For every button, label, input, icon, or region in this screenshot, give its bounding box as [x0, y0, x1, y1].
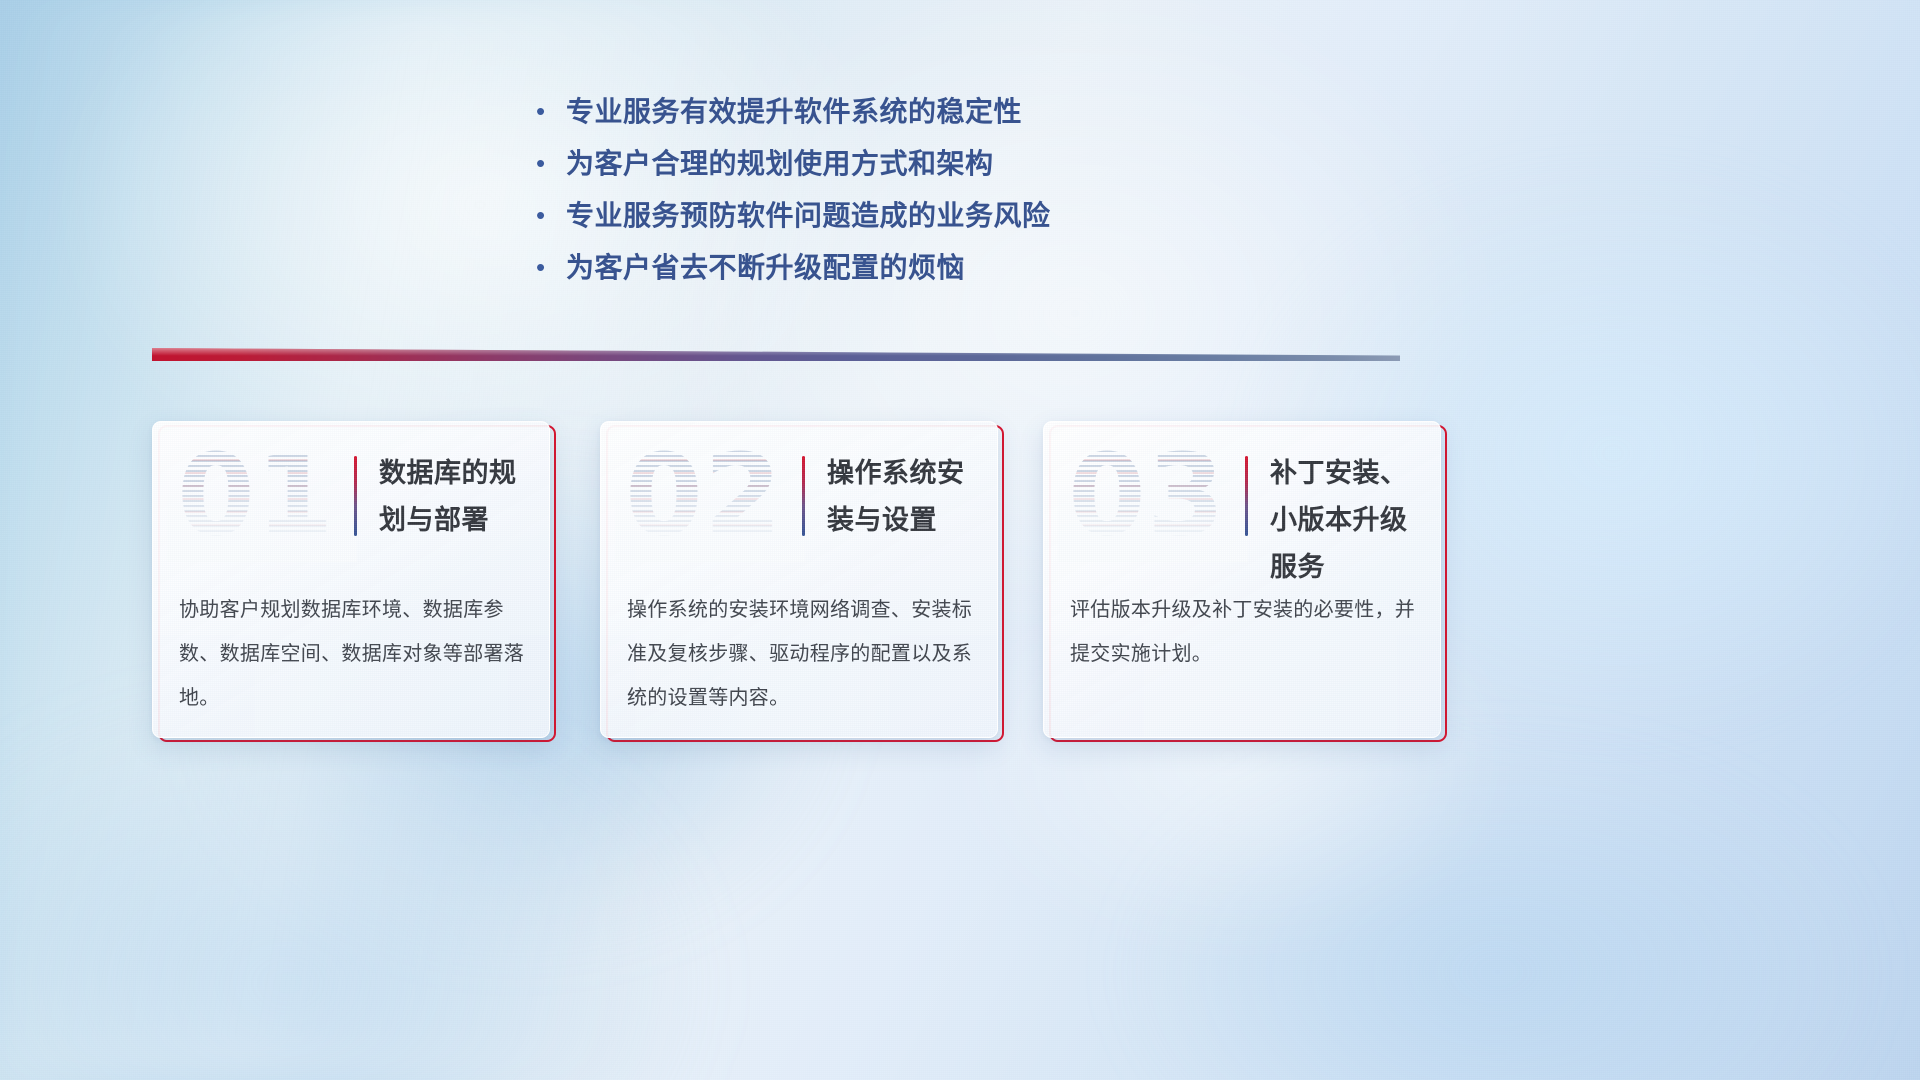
service-card-group: 01 01 数据库的规划与部署 协助客户规划数据库环境、数据库参数、数据库空间、…: [0, 421, 1920, 747]
card-title: 操作系统安装与设置: [827, 450, 987, 544]
card-title: 补丁安装、小版本升级服务: [1270, 450, 1430, 591]
card-number-watermark-tint: 02: [625, 440, 783, 552]
card-title-accent-bar: [354, 456, 357, 536]
bullet-item-3: • 专业服务预防软件问题造成的业务风险: [536, 192, 1436, 244]
benefits-bullet-list: • 专业服务有效提升软件系统的稳定性 • 为客户合理的规划使用方式和架构 • 专…: [536, 88, 1436, 296]
card-header: 02 02 操作系统安装与设置: [601, 422, 998, 570]
card-surface: 03 03 补丁安装、小版本升级服务 评估版本升级及补丁安装的必要性，并提交实施…: [1043, 421, 1441, 738]
bullet-label: 专业服务预防软件问题造成的业务风险: [566, 192, 1051, 239]
card-header: 03 03 补丁安装、小版本升级服务: [1044, 422, 1441, 570]
bullet-item-1: • 专业服务有效提升软件系统的稳定性: [536, 88, 1436, 140]
card-description: 操作系统的安装环境网络调查、安装标准及复核步骤、驱动程序的配置以及系统的设置等内…: [627, 588, 979, 720]
bullet-item-4: • 为客户省去不断升级配置的烦恼: [536, 244, 1436, 296]
service-card-01[interactable]: 01 01 数据库的规划与部署 协助客户规划数据库环境、数据库参数、数据库空间、…: [152, 421, 556, 742]
bullet-label: 为客户合理的规划使用方式和架构: [566, 140, 994, 187]
card-title-accent-bar: [1245, 456, 1248, 536]
card-title-accent-bar: [802, 456, 805, 536]
bullet-dot-icon: •: [536, 192, 566, 239]
card-number-watermark-tint: 01: [177, 440, 335, 552]
card-number-watermark-tint: 03: [1068, 440, 1226, 552]
bullet-dot-icon: •: [536, 140, 566, 187]
bullet-dot-icon: •: [536, 244, 566, 291]
section-divider: [152, 348, 1400, 364]
card-header: 01 01 数据库的规划与部署: [153, 422, 550, 570]
card-title: 数据库的规划与部署: [379, 450, 539, 544]
card-surface: 02 02 操作系统安装与设置 操作系统的安装环境网络调查、安装标准及复核步骤、…: [600, 421, 998, 738]
bullet-label: 专业服务有效提升软件系统的稳定性: [566, 88, 1022, 135]
card-description: 评估版本升级及补丁安装的必要性，并提交实施计划。: [1070, 588, 1422, 676]
service-card-02[interactable]: 02 02 操作系统安装与设置 操作系统的安装环境网络调查、安装标准及复核步骤、…: [600, 421, 1004, 742]
bullet-item-2: • 为客户合理的规划使用方式和架构: [536, 140, 1436, 192]
bullet-label: 为客户省去不断升级配置的烦恼: [566, 244, 965, 291]
bullet-dot-icon: •: [536, 88, 566, 135]
divider-highlight: [152, 348, 1400, 361]
card-description: 协助客户规划数据库环境、数据库参数、数据库空间、数据库对象等部署落地。: [179, 588, 531, 720]
slide-canvas: • 专业服务有效提升软件系统的稳定性 • 为客户合理的规划使用方式和架构 • 专…: [0, 0, 1920, 1080]
card-surface: 01 01 数据库的规划与部署 协助客户规划数据库环境、数据库参数、数据库空间、…: [152, 421, 550, 738]
service-card-03[interactable]: 03 03 补丁安装、小版本升级服务 评估版本升级及补丁安装的必要性，并提交实施…: [1043, 421, 1447, 742]
